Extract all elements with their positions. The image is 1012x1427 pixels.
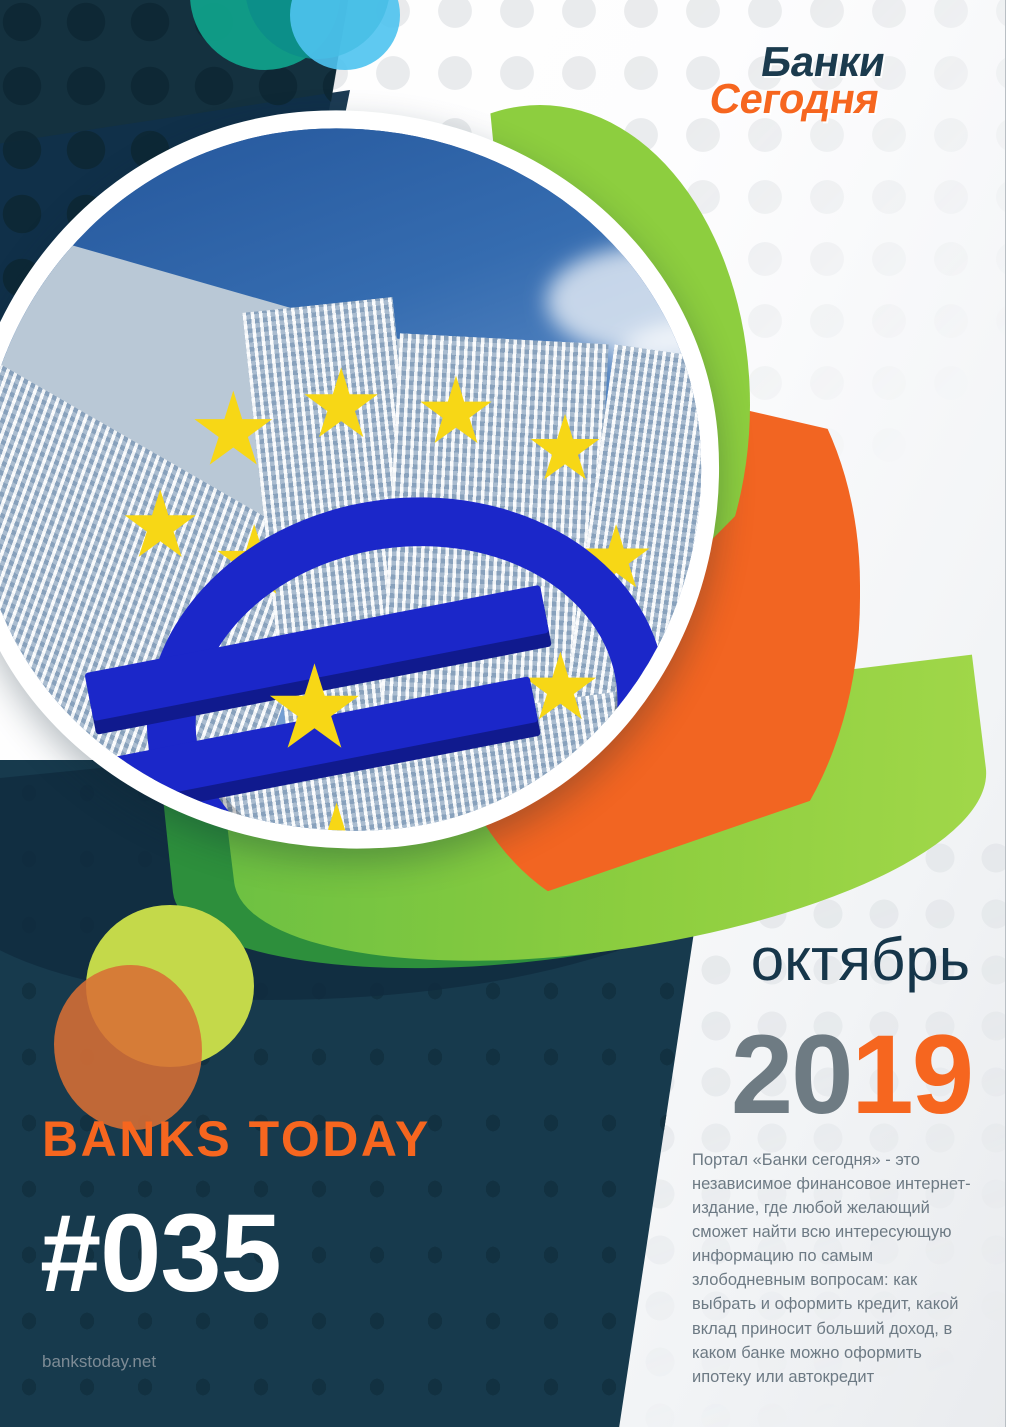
brand-logo-line2: Сегодня bbox=[707, 81, 882, 118]
website-url[interactable]: bankstoday.net bbox=[42, 1352, 156, 1372]
issue-year-part1: 20 bbox=[731, 1012, 852, 1137]
brand-logo[interactable]: Банки Сегодня bbox=[707, 44, 887, 118]
cover-photo bbox=[0, 104, 726, 857]
euro-symbol-sculpture bbox=[87, 451, 634, 857]
publication-description: Портал «Банки сегодня» - это независимое… bbox=[692, 1148, 982, 1389]
page-edge-margin bbox=[1006, 0, 1012, 1427]
issue-month: октябрь bbox=[751, 925, 970, 994]
magazine-cover: Банки Сегодня октябрь 2019 Портал «Банки… bbox=[0, 0, 1012, 1427]
issue-year: 2019 bbox=[731, 1010, 972, 1139]
cover-photo-frame bbox=[0, 84, 745, 875]
issue-year-part2: 19 bbox=[851, 1012, 972, 1137]
brand-title: BANKS TODAY bbox=[42, 1110, 431, 1168]
cover-photo-content bbox=[0, 104, 726, 857]
issue-number: #035 bbox=[40, 1190, 281, 1317]
